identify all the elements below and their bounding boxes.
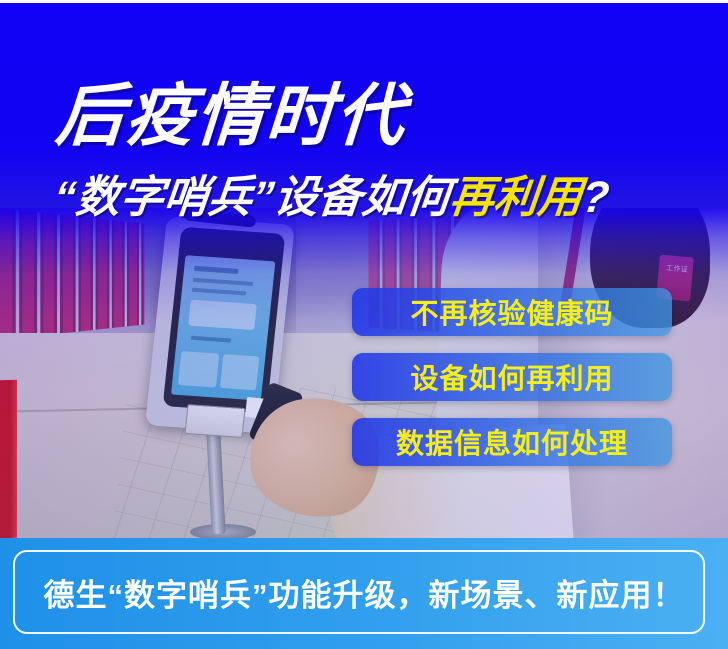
bottom-banner: 德生“数字哨兵”功能升级，新场景、新应用！	[0, 538, 728, 649]
page-subtitle: “数字哨兵”设备如何再利用?	[51, 172, 611, 224]
subtitle-highlight: 再利用	[447, 173, 584, 222]
subtitle-suffix: ?	[579, 173, 611, 222]
topic-pill-label: 数据信息如何处理	[396, 422, 628, 462]
topic-list: 不再核验健康码 设备如何再利用 数据信息如何处理	[352, 288, 672, 483]
topic-pill-label: 不再核验健康码	[410, 292, 613, 332]
topic-pill-2[interactable]: 设备如何再利用	[352, 353, 672, 401]
topic-pill-label: 设备如何再利用	[410, 357, 613, 397]
banner-text: 德生“数字哨兵”功能升级，新场景、新应用！	[0, 550, 728, 634]
topic-pill-1[interactable]: 不再核验健康码	[352, 288, 672, 336]
top-white-edge	[0, 0, 728, 3]
subtitle-prefix: “数字哨兵”设备如何	[51, 173, 452, 222]
promotional-poster: 工作证 后疫情时代 “数字哨兵”设备如何再利用?	[0, 0, 728, 649]
topic-pill-3[interactable]: 数据信息如何处理	[352, 418, 672, 466]
page-title: 后疫情时代	[53, 78, 408, 154]
